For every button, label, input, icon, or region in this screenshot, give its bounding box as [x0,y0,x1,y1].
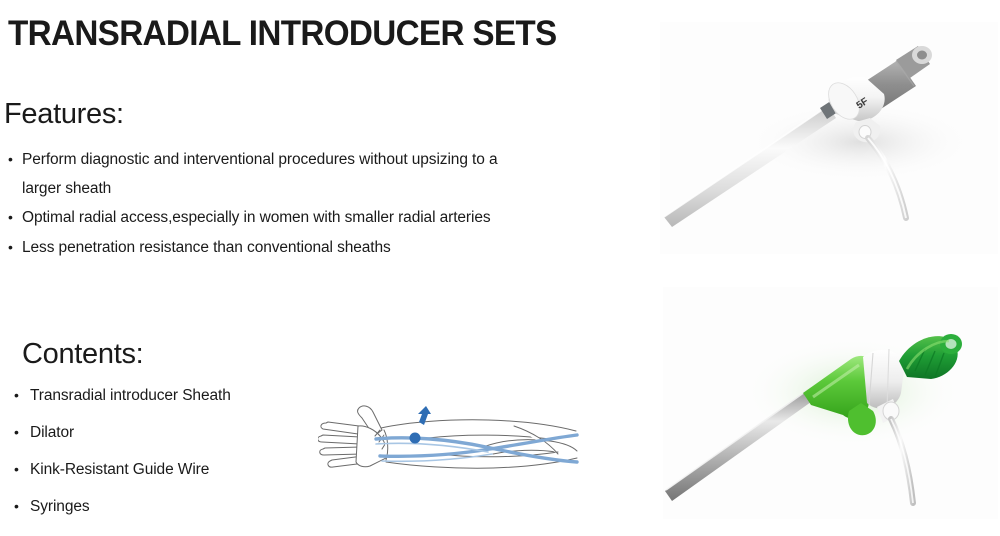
list-item: Perform diagnostic and interventional pr… [6,146,536,203]
list-item: Kink-Resistant Guide Wire [10,456,330,485]
contents-list: Transradial introducer Sheath Dilator Ki… [10,382,330,530]
features-heading: Features: [4,98,124,131]
access-point-marker [410,433,421,444]
product-photo-green-sheath [663,287,998,519]
radial-artery-access-diagram [318,392,580,488]
list-item: Transradial introducer Sheath [10,382,330,411]
list-item: Optimal radial access,especially in wome… [6,204,536,233]
contents-heading: Contents: [22,338,143,371]
list-item: Less penetration resistance than convent… [6,234,536,263]
product-photo-white-sheath: 5F [660,22,998,254]
list-item: Dilator [10,419,330,448]
features-list: Perform diagnostic and interventional pr… [6,146,536,263]
list-item: Syringes [10,493,330,522]
page-title: TRANSRADIAL INTRODUCER SETS [8,14,557,54]
